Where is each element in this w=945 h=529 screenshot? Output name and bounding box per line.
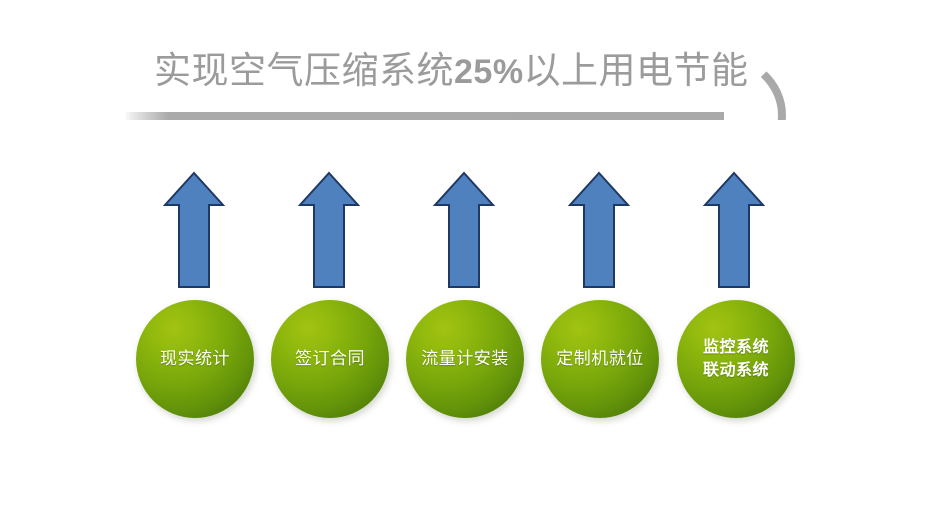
up-arrow-icon-2	[297, 170, 361, 290]
process-step-circle-4[interactable]: 定制机就位	[541, 300, 659, 418]
process-step-label-3: 流量计安装	[415, 348, 515, 370]
process-step-2-line-1: 签订合同	[295, 349, 365, 368]
process-step-row: 现实统计签订合同流量计安装定制机就位监控系统联动系统	[0, 300, 945, 425]
process-step-circle-1[interactable]: 现实统计	[136, 300, 254, 418]
title-underline-decoration	[124, 112, 724, 120]
process-step-circle-3[interactable]: 流量计安装	[406, 300, 524, 418]
process-step-5-line-1: 监控系统	[703, 339, 769, 356]
arrow-row	[0, 170, 945, 292]
process-step-4-line-1: 定制机就位	[556, 349, 644, 368]
up-arrow-icon-3	[432, 170, 496, 290]
title-text-before: 实现空气压缩系统	[154, 51, 454, 92]
process-step-circle-2[interactable]: 签订合同	[271, 300, 389, 418]
process-step-label-4: 定制机就位	[550, 348, 650, 370]
process-step-label-5: 监控系统联动系统	[697, 336, 775, 382]
process-step-3-line-1: 流量计安装	[421, 349, 509, 368]
process-step-circle-5[interactable]: 监控系统联动系统	[677, 300, 795, 418]
up-arrow-icon-5	[702, 170, 766, 290]
process-step-1-line-1: 现实统计	[160, 349, 230, 368]
up-arrow-icon-4	[567, 170, 631, 290]
process-step-label-2: 签订合同	[289, 348, 371, 370]
title-highlight-percent: 25%	[454, 53, 524, 91]
process-step-5-line-2: 联动系统	[703, 362, 769, 379]
process-step-label-1: 现实统计	[154, 348, 236, 370]
slide-canvas: 实现空气压缩系统25%以上用电节能 现实统计签订合同流量计安装定制机就位监控系统…	[0, 0, 945, 529]
up-arrow-icon-1	[162, 170, 226, 290]
title-text-after: 以上用电节能	[524, 51, 749, 92]
title-banner: 实现空气压缩系统25%以上用电节能	[120, 38, 790, 128]
page-title: 实现空气压缩系统25%以上用电节能	[154, 38, 754, 106]
